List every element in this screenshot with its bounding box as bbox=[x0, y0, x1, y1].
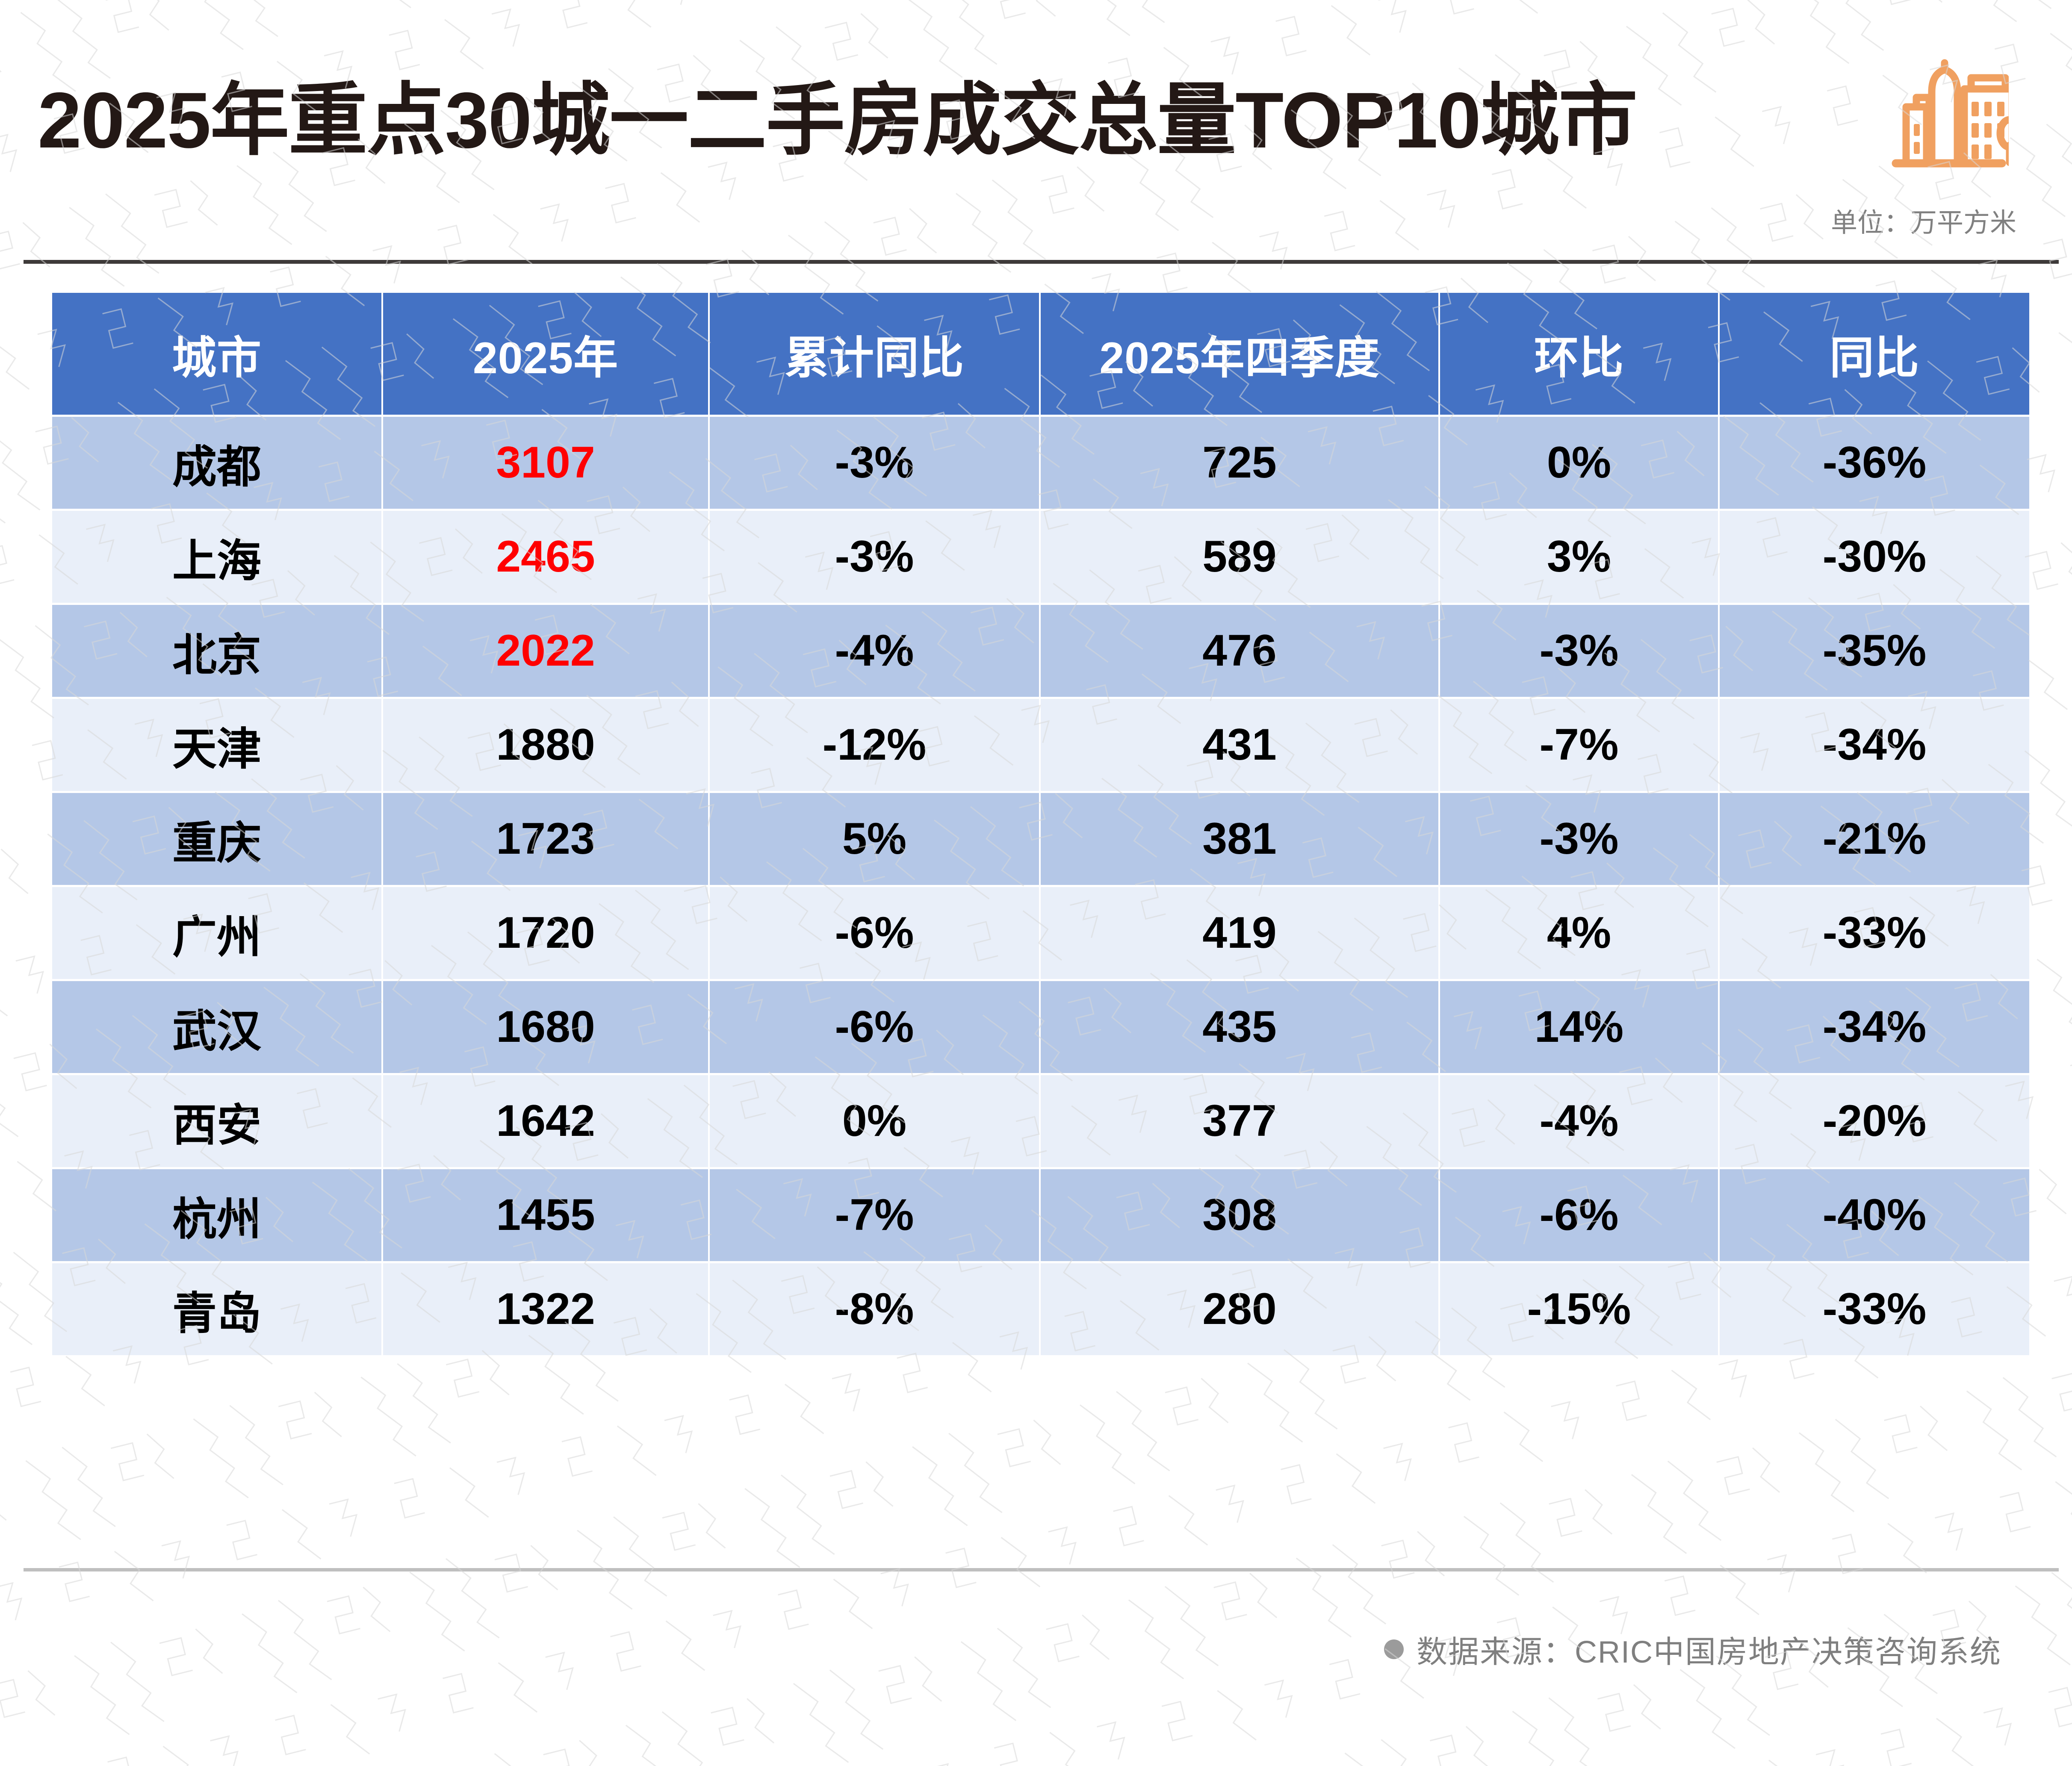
cell-q4: 589 bbox=[1041, 511, 1438, 603]
cell-q4: 431 bbox=[1041, 699, 1438, 791]
cell-cum-yoy: -8% bbox=[710, 1263, 1039, 1355]
page-header: 2025年重点30城一二手房成交总量TOP10城市 bbox=[0, 0, 2072, 256]
cell-city: 成都 bbox=[52, 417, 381, 509]
cell-year2025: 1880 bbox=[383, 699, 708, 791]
table-row: 成都 3107 -3% 725 0% -36% bbox=[52, 417, 2029, 509]
cell-mom: -15% bbox=[1440, 1263, 1718, 1355]
cell-mom: -6% bbox=[1440, 1169, 1718, 1261]
cell-mom: 0% bbox=[1440, 417, 1718, 509]
cell-mom: -3% bbox=[1440, 793, 1718, 885]
cell-q4: 377 bbox=[1041, 1075, 1438, 1167]
table-row: 武汉 1680 -6% 435 14% -34% bbox=[52, 981, 2029, 1073]
cell-year2025: 1720 bbox=[383, 887, 708, 979]
cell-year2025: 1642 bbox=[383, 1075, 708, 1167]
cell-yoy: -20% bbox=[1720, 1075, 2029, 1167]
column-header-year: 2025年 bbox=[383, 293, 708, 415]
cell-cum-yoy: -3% bbox=[710, 417, 1039, 509]
column-header-yoy: 同比 bbox=[1720, 293, 2029, 415]
column-header-cum-yoy: 累计同比 bbox=[710, 293, 1039, 415]
cell-yoy: -40% bbox=[1720, 1169, 2029, 1261]
cell-year2025: 3107 bbox=[383, 417, 708, 509]
cell-year2025: 2022 bbox=[383, 605, 708, 697]
cell-city: 杭州 bbox=[52, 1169, 381, 1261]
cell-cum-yoy: -3% bbox=[710, 511, 1039, 603]
footer-divider bbox=[24, 1568, 2059, 1571]
cell-cum-yoy: -12% bbox=[710, 699, 1039, 791]
cell-yoy: -30% bbox=[1720, 511, 2029, 603]
column-header-mom: 环比 bbox=[1440, 293, 1718, 415]
cell-mom: 4% bbox=[1440, 887, 1718, 979]
cell-city: 北京 bbox=[52, 605, 381, 697]
cell-mom: -4% bbox=[1440, 1075, 1718, 1167]
cell-cum-yoy: -7% bbox=[710, 1169, 1039, 1261]
cell-cum-yoy: -6% bbox=[710, 981, 1039, 1073]
source-text: 数据来源：CRIC中国房地产决策咨询系统 bbox=[1417, 1627, 2001, 1672]
cell-yoy: -34% bbox=[1720, 981, 2029, 1073]
table-row: 广州 1720 -6% 419 4% -33% bbox=[52, 887, 2029, 979]
unit-label: 单位：万平方米 bbox=[1831, 201, 2016, 239]
cell-yoy: -21% bbox=[1720, 793, 2029, 885]
cell-yoy: -34% bbox=[1720, 699, 2029, 791]
data-table-container: 城市 2025年 累计同比 2025年四季度 环比 同比 成都 3107 -3%… bbox=[50, 291, 2019, 1357]
building-icon bbox=[1880, 51, 2009, 180]
cell-year2025: 1680 bbox=[383, 981, 708, 1073]
bullet-icon bbox=[1384, 1639, 1404, 1659]
cell-city: 广州 bbox=[52, 887, 381, 979]
cell-city: 上海 bbox=[52, 511, 381, 603]
cell-mom: 14% bbox=[1440, 981, 1718, 1073]
cell-q4: 435 bbox=[1041, 981, 1438, 1073]
cell-city: 重庆 bbox=[52, 793, 381, 885]
cell-cum-yoy: 5% bbox=[710, 793, 1039, 885]
cell-mom: -7% bbox=[1440, 699, 1718, 791]
column-header-q4: 2025年四季度 bbox=[1041, 293, 1438, 415]
source-footer: 数据来源：CRIC中国房地产决策咨询系统 bbox=[1384, 1627, 2001, 1672]
cell-city: 天津 bbox=[52, 699, 381, 791]
cell-cum-yoy: -6% bbox=[710, 887, 1039, 979]
cell-year2025: 2465 bbox=[383, 511, 708, 603]
cell-q4: 476 bbox=[1041, 605, 1438, 697]
cell-year2025: 1723 bbox=[383, 793, 708, 885]
cell-yoy: -35% bbox=[1720, 605, 2029, 697]
cell-cum-yoy: 0% bbox=[710, 1075, 1039, 1167]
cell-year2025: 1455 bbox=[383, 1169, 708, 1261]
cell-year2025: 1322 bbox=[383, 1263, 708, 1355]
page-title: 2025年重点30城一二手房成交总量TOP10城市 bbox=[38, 81, 1637, 160]
table-row: 杭州 1455 -7% 308 -6% -40% bbox=[52, 1169, 2029, 1261]
cell-q4: 725 bbox=[1041, 417, 1438, 509]
cell-mom: 3% bbox=[1440, 511, 1718, 603]
cell-yoy: -33% bbox=[1720, 1263, 2029, 1355]
table-row: 西安 1642 0% 377 -4% -20% bbox=[52, 1075, 2029, 1167]
cell-q4: 419 bbox=[1041, 887, 1438, 979]
cell-cum-yoy: -4% bbox=[710, 605, 1039, 697]
table-row: 青岛 1322 -8% 280 -15% -33% bbox=[52, 1263, 2029, 1355]
cell-city: 武汉 bbox=[52, 981, 381, 1073]
cell-q4: 381 bbox=[1041, 793, 1438, 885]
cell-yoy: -36% bbox=[1720, 417, 2029, 509]
table-row: 上海 2465 -3% 589 3% -30% bbox=[52, 511, 2029, 603]
cell-city: 青岛 bbox=[52, 1263, 381, 1355]
table-row: 北京 2022 -4% 476 -3% -35% bbox=[52, 605, 2029, 697]
table-row: 重庆 1723 5% 381 -3% -21% bbox=[52, 793, 2029, 885]
data-table: 城市 2025年 累计同比 2025年四季度 环比 同比 成都 3107 -3%… bbox=[50, 291, 2031, 1357]
column-header-city: 城市 bbox=[52, 293, 381, 415]
cell-q4: 308 bbox=[1041, 1169, 1438, 1261]
table-row: 天津 1880 -12% 431 -7% -34% bbox=[52, 699, 2029, 791]
cell-yoy: -33% bbox=[1720, 887, 2029, 979]
cell-q4: 280 bbox=[1041, 1263, 1438, 1355]
cell-mom: -3% bbox=[1440, 605, 1718, 697]
table-header-row: 城市 2025年 累计同比 2025年四季度 环比 同比 bbox=[52, 293, 2029, 415]
cell-city: 西安 bbox=[52, 1075, 381, 1167]
header-divider bbox=[24, 260, 2059, 264]
